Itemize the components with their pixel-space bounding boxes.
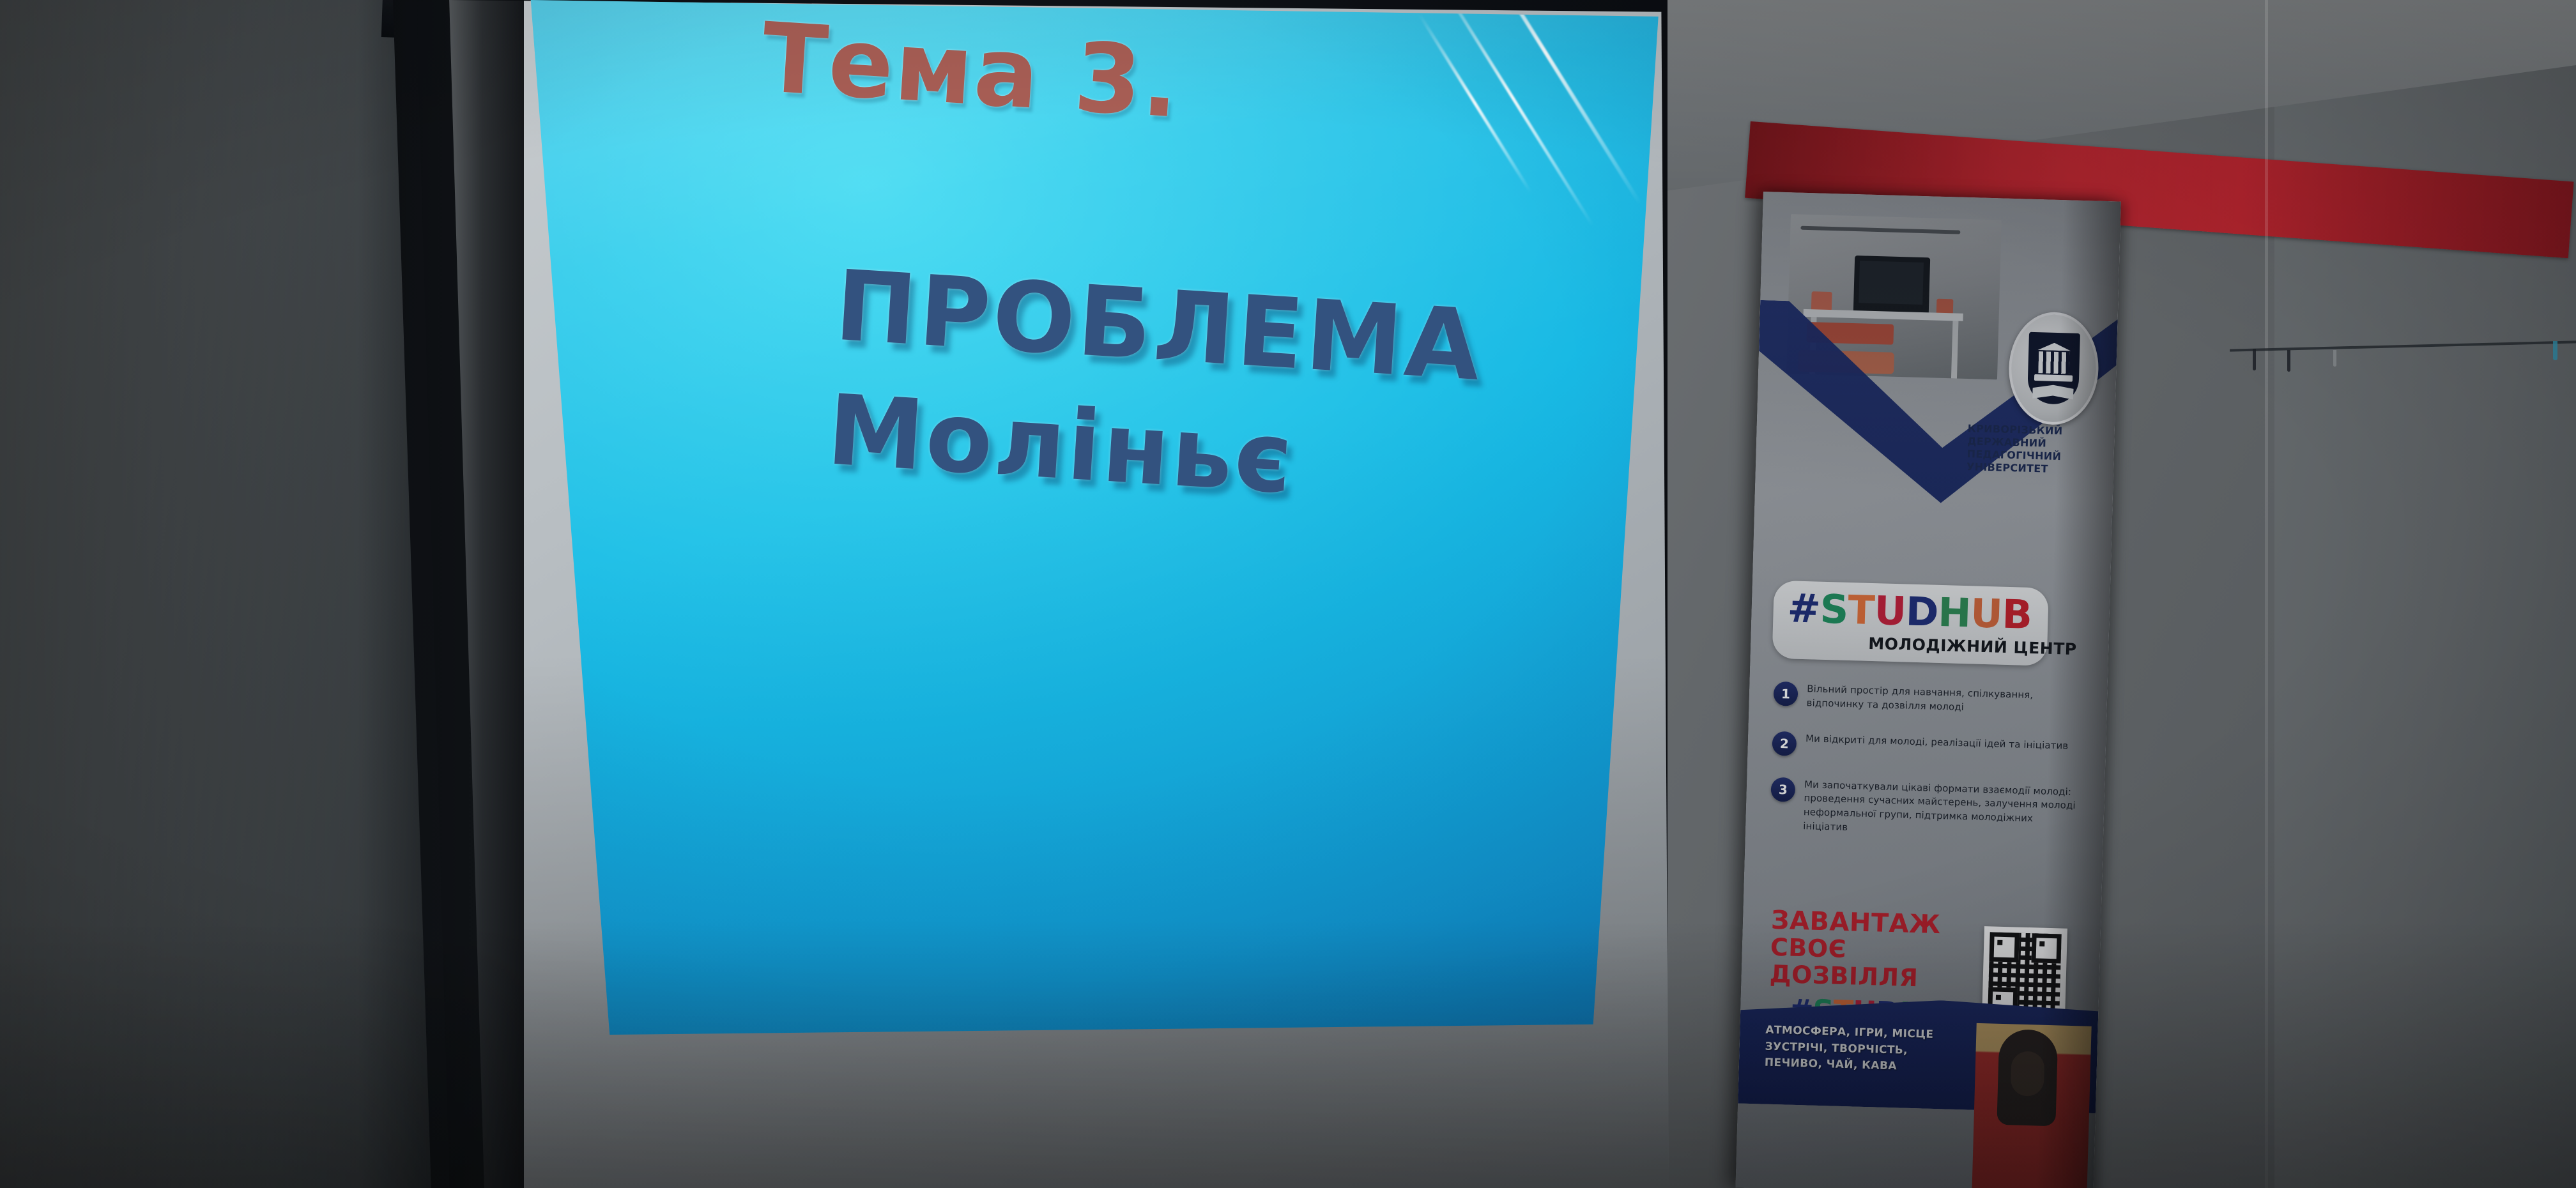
studhub-rollup-poster: КРИВОРІЗЬКИЙ ДЕРЖАВНИЙ ПЕДАГОГІЧНИЙ УНІВ… [1735,192,2120,1188]
left-wall-shadow [358,0,524,1188]
studhub-wordmark: #STUDHUB [1787,588,2032,635]
poster-band-text: АТМОСФЕРА, ІГРИ, МІСЦЕ ЗУСТРІЧІ, ТВОРЧІС… [1765,1023,1958,1077]
studhub-letter: B [2002,595,2032,635]
studhub-letter: U [1970,593,2002,634]
bullet-text: Ми відкриті для молоді, реалізації ідей … [1805,732,2069,753]
bullet-badge: 1 [1774,682,1798,706]
bullet-text: Вільний простір для навчання, спілкуванн… [1806,682,2081,717]
projected-slide: Тема 3. ПРОБЛЕМА Моліньє [524,0,1667,1035]
studhub-subtitle: МОЛОДІЖНИЙ ЦЕНТР [1868,634,2077,659]
studhub-logo-pill: #STUDHUB МОЛОДІЖНИЙ ЦЕНТР [1772,581,2049,666]
studhub-letter: S [1820,590,1848,630]
list-item: 1 Вільний простір для навчання, спілкува… [1773,682,2081,718]
bullet-badge: 2 [1772,731,1797,756]
list-item: 3 Ми започаткували цікаві формати взаємо… [1770,777,2079,841]
rail-hook-icon [2253,349,2256,370]
laptop-icon [1853,255,1931,316]
lecture-room-photo: Тема 3. ПРОБЛЕМА Моліньє [0,0,2576,1188]
rail-hook-icon [2333,350,2336,367]
rail-hook-icon [2287,350,2290,372]
wall-corner-seam [2265,0,2268,1188]
desk-leg [1951,321,1958,379]
studhub-letter: U [1874,591,1906,631]
hash-icon: # [1787,588,1821,628]
studhub-letter: T [1848,590,1875,630]
bullet-badge: 3 [1770,777,1795,802]
photo-shelf [1800,226,1960,234]
studhub-letter: D [1905,591,1938,632]
poster-bullet-list: 1 Вільний простір для навчання, спілкува… [1769,682,2081,863]
bullet-text: Ми започаткували цікаві формати взаємоді… [1803,778,2079,841]
list-item: 2 Ми відкриті для молоді, реалізації іде… [1772,731,2080,763]
qr-finder-icon [1989,932,2019,962]
rail-hook-icon [2553,341,2557,360]
cta-line-2: СВОЄ ДОЗВІЛЛЯ [1769,934,1981,994]
cup-icon [1811,291,1832,311]
studhub-letter: H [1938,593,1972,633]
